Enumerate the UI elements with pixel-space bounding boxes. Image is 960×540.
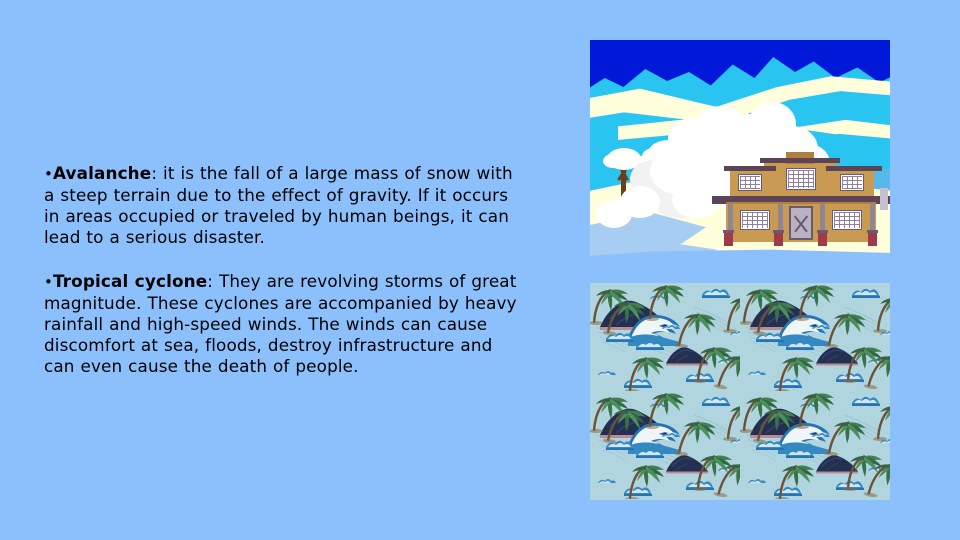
bullet-marker-avalanche: • <box>44 165 53 183</box>
bullet-term-cyclone: Tropical cyclone <box>53 271 207 291</box>
avalanche-illustration <box>590 40 890 262</box>
slide-canvas: •Avalanche: it is the fall of a large ma… <box>0 0 960 540</box>
window-upper-left <box>738 174 762 191</box>
upper-roof-edge <box>760 158 840 163</box>
porch-post-cap <box>867 230 878 233</box>
bullet-paragraph-avalanche: •Avalanche: it is the fall of a large ma… <box>44 163 522 249</box>
wall-shadow-line <box>726 202 876 204</box>
wooden-house <box>712 144 890 258</box>
porch-post-cap <box>817 230 828 233</box>
cyclone-tint-overlay <box>590 283 890 500</box>
window-upper-center <box>786 168 816 190</box>
bullet-separator-cyclone: : <box>207 271 219 291</box>
bullet-separator-avalanche: : <box>151 163 163 183</box>
porch-post-cap <box>773 230 784 233</box>
porch-post-base <box>868 232 877 246</box>
porch-post-base <box>724 232 733 246</box>
porch-post-base <box>818 232 827 246</box>
text-content-column: •Avalanche: it is the fall of a large ma… <box>44 146 522 394</box>
upper-roof-edge-left <box>724 166 776 171</box>
upper-roof-edge-right <box>826 166 882 171</box>
front-door[interactable] <box>789 206 813 240</box>
bullet-paragraph-cyclone: •Tropical cyclone: They are revolving st… <box>44 271 522 378</box>
chimney <box>880 188 888 210</box>
window-lower-right <box>832 210 862 230</box>
porch-post-cap <box>723 230 734 233</box>
bullet-marker-cyclone: • <box>44 273 53 291</box>
porch-post-base <box>774 232 783 246</box>
tropical-cyclone-pattern <box>590 283 890 500</box>
window-lower-left <box>740 210 770 230</box>
bullet-term-avalanche: Avalanche <box>53 163 151 183</box>
cyclone-pattern-canvas <box>590 283 890 500</box>
window-upper-right <box>840 174 864 191</box>
